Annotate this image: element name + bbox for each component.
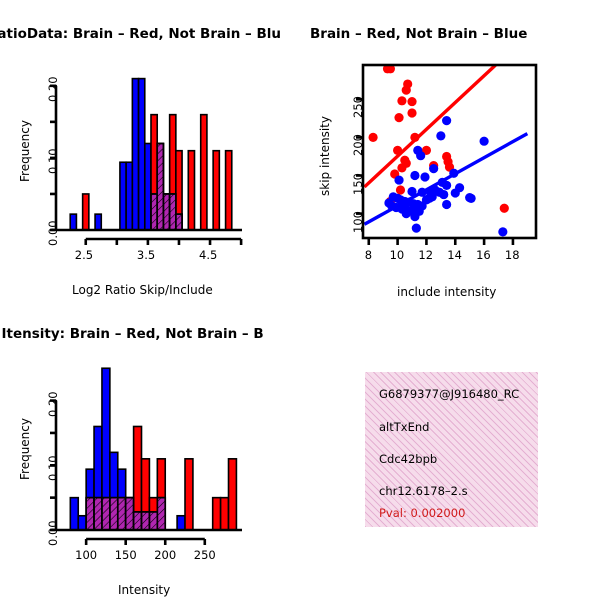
hist-bar-hatch (176, 214, 182, 230)
scatter-point (436, 131, 445, 140)
hist-bar-rect (70, 214, 76, 230)
hist-bar-rect (70, 498, 78, 530)
scatter-point (407, 187, 416, 196)
hist-bar (170, 194, 176, 230)
tick-label: 18 (505, 248, 520, 262)
tick-label: 8 (365, 248, 372, 262)
scatter-point (442, 116, 451, 125)
scatter-point (428, 192, 437, 201)
hist-bar (149, 512, 157, 530)
hist-bar (134, 512, 142, 530)
tick-label: 200 (351, 134, 365, 156)
hist-bar-rect (221, 498, 229, 530)
tick-label: 0.20 (46, 76, 60, 102)
scatter-point (394, 175, 403, 184)
scatter-point (394, 113, 403, 122)
hist-bar (176, 214, 182, 230)
hist-bar (221, 498, 229, 530)
scatter-point (412, 223, 421, 232)
scatter-point (410, 133, 419, 142)
scatter-point (410, 171, 419, 180)
hist-bar-rect (185, 459, 193, 530)
hist-bar-rect (213, 498, 221, 530)
hist-bar-rect (177, 516, 185, 530)
scatter-point (368, 133, 377, 142)
hist-bar (157, 143, 163, 230)
hist-bar-hatch (102, 498, 110, 530)
info-line-pval: Pval: 0.002000 (379, 506, 465, 520)
hist-bar-rect (188, 151, 194, 230)
tick-label: 0.10 (46, 456, 60, 482)
hist-bar-hatch (142, 512, 150, 530)
hist-bar-hatch (86, 498, 94, 530)
hist-bar-rect (126, 162, 132, 230)
scatter-point (407, 97, 416, 106)
tick-label: 0.10 (46, 148, 60, 174)
scatter-point (442, 181, 451, 190)
hist-bar (83, 194, 89, 230)
hist-bar (213, 498, 221, 530)
tick-label: 12 (418, 248, 433, 262)
hist-intensity-plot (0, 305, 300, 600)
hist-bar-hatch (163, 194, 169, 230)
tick-label: 150 (115, 548, 137, 562)
hist-bar (151, 194, 157, 230)
hist-bar-hatch (157, 143, 163, 230)
hist-bar (86, 498, 94, 530)
hist-bar (139, 79, 145, 230)
scatter-point (397, 163, 406, 172)
hist-bar (145, 143, 151, 230)
scatter-point (402, 209, 411, 218)
gene-info-box: G6879377@J916480_RC altTxEnd Cdc42bpb ch… (365, 372, 538, 527)
hist-bar-rect (120, 162, 126, 230)
tick-label: 0.20 (46, 391, 60, 417)
scatter-point (416, 151, 425, 160)
hist-bar (102, 498, 110, 530)
scatter-point (449, 169, 458, 178)
hist-bar-hatch (157, 498, 165, 530)
hist-bar (213, 151, 219, 230)
scatter-point (451, 188, 460, 197)
scatter-point (442, 200, 451, 209)
scatter-point (500, 204, 509, 213)
scatter-point (393, 146, 402, 155)
info-line-probe: G6879377@J916480_RC (379, 387, 519, 401)
hist-bar (126, 498, 134, 530)
scatter-point (467, 194, 476, 203)
scatter-point (480, 137, 489, 146)
hist-bar (110, 498, 118, 530)
hist-bar-rect (83, 194, 89, 230)
tick-label: 0.00 (46, 220, 60, 246)
tick-label: 10 (390, 248, 405, 262)
hist-bar-rect (201, 115, 207, 230)
scatter-point (498, 227, 507, 236)
hist-bar (177, 516, 185, 530)
hist-bar-hatch (149, 512, 157, 530)
hist-bar-rect (78, 516, 86, 530)
hist-bar (126, 162, 132, 230)
scatter-point (420, 172, 429, 181)
tick-label: 250 (351, 96, 365, 118)
hist-bar (78, 516, 86, 530)
hist-bar (229, 459, 237, 530)
hist-bar-hatch (110, 498, 118, 530)
hist-bar-rect (139, 79, 145, 230)
hist-bar-rect (229, 459, 237, 530)
tick-label: 250 (194, 548, 216, 562)
panel-scatter: Brain – Red, Not Brain – Blue skip inten… (300, 0, 600, 310)
hist-bar-hatch (94, 498, 102, 530)
hist-bar-hatch (118, 498, 126, 530)
scatter-point (429, 164, 438, 173)
figure-canvas: RatioData: Brain – Red, Not Brain – Blu … (0, 0, 600, 600)
tick-label: 14 (447, 248, 462, 262)
info-line-gene: Cdc42bpb (379, 452, 437, 466)
hist-bar (185, 459, 193, 530)
plot-area (364, 64, 527, 236)
hist-bar-rect (213, 151, 219, 230)
tick-label: 100 (351, 211, 365, 233)
hist-bar-hatch (134, 512, 142, 530)
hist-bar (163, 194, 169, 230)
tick-label: 4.5 (199, 248, 217, 262)
info-line-coordinate: chr12.6178–2.s (379, 484, 468, 498)
hist-bar-hatch (170, 194, 176, 230)
hist-bar-rect (145, 143, 151, 230)
hist-bar (132, 79, 138, 230)
hist-bar (70, 214, 76, 230)
tick-label: 3.5 (137, 248, 155, 262)
hist-ratio-plot (0, 0, 300, 310)
panel-hist-intensity: ne Itensity: Brain – Red, Not Brain – B … (0, 305, 300, 600)
tick-label: 0.00 (46, 520, 60, 546)
hist-bar (70, 498, 78, 530)
hist-bar (201, 115, 207, 230)
scatter-plot (300, 0, 600, 310)
scatter-point (396, 185, 405, 194)
scatter-point (439, 190, 448, 199)
scatter-point (407, 108, 416, 117)
hist-bar-rect (95, 214, 101, 230)
hist-bar-rect (226, 151, 232, 230)
hist-bar (188, 151, 194, 230)
tick-label: 16 (476, 248, 491, 262)
hist-bar (94, 498, 102, 530)
scatter-point (410, 212, 419, 221)
tick-label: 2.5 (75, 248, 93, 262)
tick-label: 200 (154, 548, 176, 562)
info-line-event-type: altTxEnd (379, 420, 429, 434)
tick-label: 100 (75, 548, 97, 562)
hist-bar-hatch (151, 194, 157, 230)
hist-bar (142, 512, 150, 530)
hist-bar (226, 151, 232, 230)
scatter-point (402, 86, 411, 95)
hist-bar (157, 498, 165, 530)
scatter-point (397, 96, 406, 105)
hist-bar (118, 498, 126, 530)
hist-bar (120, 162, 126, 230)
hist-bar (95, 214, 101, 230)
tick-label: 150 (351, 173, 365, 195)
hist-bar-rect (132, 79, 138, 230)
hist-bar-hatch (126, 498, 134, 530)
panel-hist-ratio: RatioData: Brain – Red, Not Brain – Blu … (0, 0, 300, 310)
